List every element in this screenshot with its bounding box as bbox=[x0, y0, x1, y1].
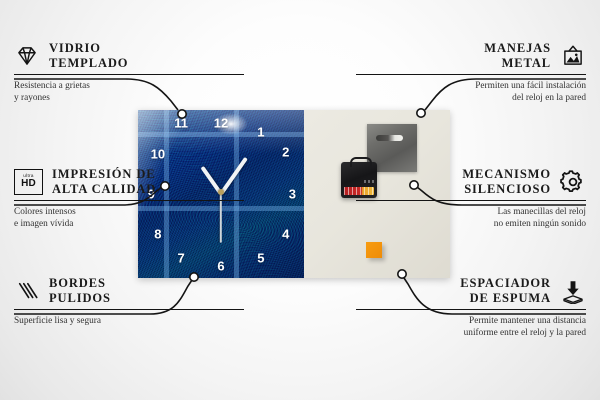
title-rule bbox=[14, 309, 244, 310]
feature-impresion-alta-calidad: ultra HD IMPRESIÓN DE ALTA CALIDAD Color… bbox=[14, 167, 244, 230]
feature-title-line2: ALTA CALIDAD bbox=[52, 182, 156, 196]
title-rule bbox=[356, 309, 586, 310]
clock-numeral-2: 2 bbox=[282, 146, 289, 159]
feature-title-line1: IMPRESIÓN DE bbox=[52, 167, 156, 181]
clock-numeral-6: 6 bbox=[217, 260, 224, 273]
feature-desc-line2: uniforme entre el reloj y la pared bbox=[464, 328, 586, 338]
feature-vidrio-templado: VIDRIO TEMPLADO Resistencia a grietas y … bbox=[14, 41, 244, 104]
infographic-canvas: 12 1 2 3 4 5 6 7 8 9 10 11 bbox=[0, 0, 600, 400]
feature-title-line1: VIDRIO bbox=[49, 41, 101, 55]
feature-desc-line1: Permite mantener una distancia bbox=[469, 316, 586, 326]
wall-mount-frame-icon bbox=[560, 43, 586, 69]
clock-numeral-1: 1 bbox=[257, 126, 264, 139]
feature-desc-line1: Superficie lisa y segura bbox=[14, 316, 101, 326]
gear-icon bbox=[560, 169, 586, 195]
feature-desc-line2: del reloj en la pared bbox=[512, 93, 586, 103]
feature-title-line1: ESPACIADOR bbox=[460, 276, 551, 290]
title-rule bbox=[14, 200, 244, 201]
feature-title-line2: SILENCIOSO bbox=[464, 182, 551, 196]
title-rule bbox=[356, 200, 586, 201]
feature-title-line2: METAL bbox=[502, 56, 551, 70]
clock-numeral-10: 10 bbox=[151, 147, 165, 160]
feature-bordes-pulidos: BORDES PULIDOS Superficie lisa y segura bbox=[14, 276, 244, 327]
hd-badge-big: HD bbox=[21, 179, 36, 189]
foam-spacer bbox=[366, 242, 382, 258]
title-rule bbox=[14, 74, 244, 75]
clock-numeral-3: 3 bbox=[289, 188, 296, 201]
feature-title-line1: MANEJAS bbox=[484, 41, 551, 55]
clock-numeral-12: 12 bbox=[214, 117, 228, 130]
feature-desc-line2: y rayones bbox=[14, 93, 50, 103]
feature-title-line2: DE ESPUMA bbox=[470, 291, 551, 305]
foam-spacer-arrow-icon bbox=[560, 278, 586, 304]
feature-mecanismo-silencioso: MECANISMO SILENCIOSO Las manecillas del … bbox=[356, 167, 586, 230]
feature-espaciador-espuma: ESPACIADOR DE ESPUMA Permite mantener un… bbox=[356, 276, 586, 339]
polished-edges-icon bbox=[14, 278, 40, 304]
clock-numeral-5: 5 bbox=[257, 251, 264, 264]
feature-desc-line1: Colores intensos bbox=[14, 207, 76, 217]
feature-title-line1: BORDES bbox=[49, 276, 106, 290]
feature-title-line2: TEMPLADO bbox=[49, 56, 128, 70]
feature-desc-line1: Permiten una fácil instalación bbox=[475, 81, 586, 91]
clock-numeral-11: 11 bbox=[174, 117, 188, 130]
ultra-hd-icon: ultra HD bbox=[14, 169, 43, 195]
feature-title-line1: MECANISMO bbox=[462, 167, 551, 181]
feature-title-line2: PULIDOS bbox=[49, 291, 111, 305]
feature-manejas-metal: MANEJAS METAL Permiten una fácil instala… bbox=[356, 41, 586, 104]
clock-numeral-7: 7 bbox=[178, 251, 185, 264]
clock-numeral-4: 4 bbox=[282, 228, 289, 241]
title-rule bbox=[356, 74, 586, 75]
feature-desc-line2: no emiten ningún sonido bbox=[494, 219, 586, 229]
diamond-icon bbox=[14, 43, 40, 69]
feature-desc-line1: Las manecillas del reloj bbox=[497, 207, 586, 217]
feature-desc-line1: Resistencia a grietas bbox=[14, 81, 90, 91]
feature-desc-line2: e imagen vívida bbox=[14, 219, 73, 229]
